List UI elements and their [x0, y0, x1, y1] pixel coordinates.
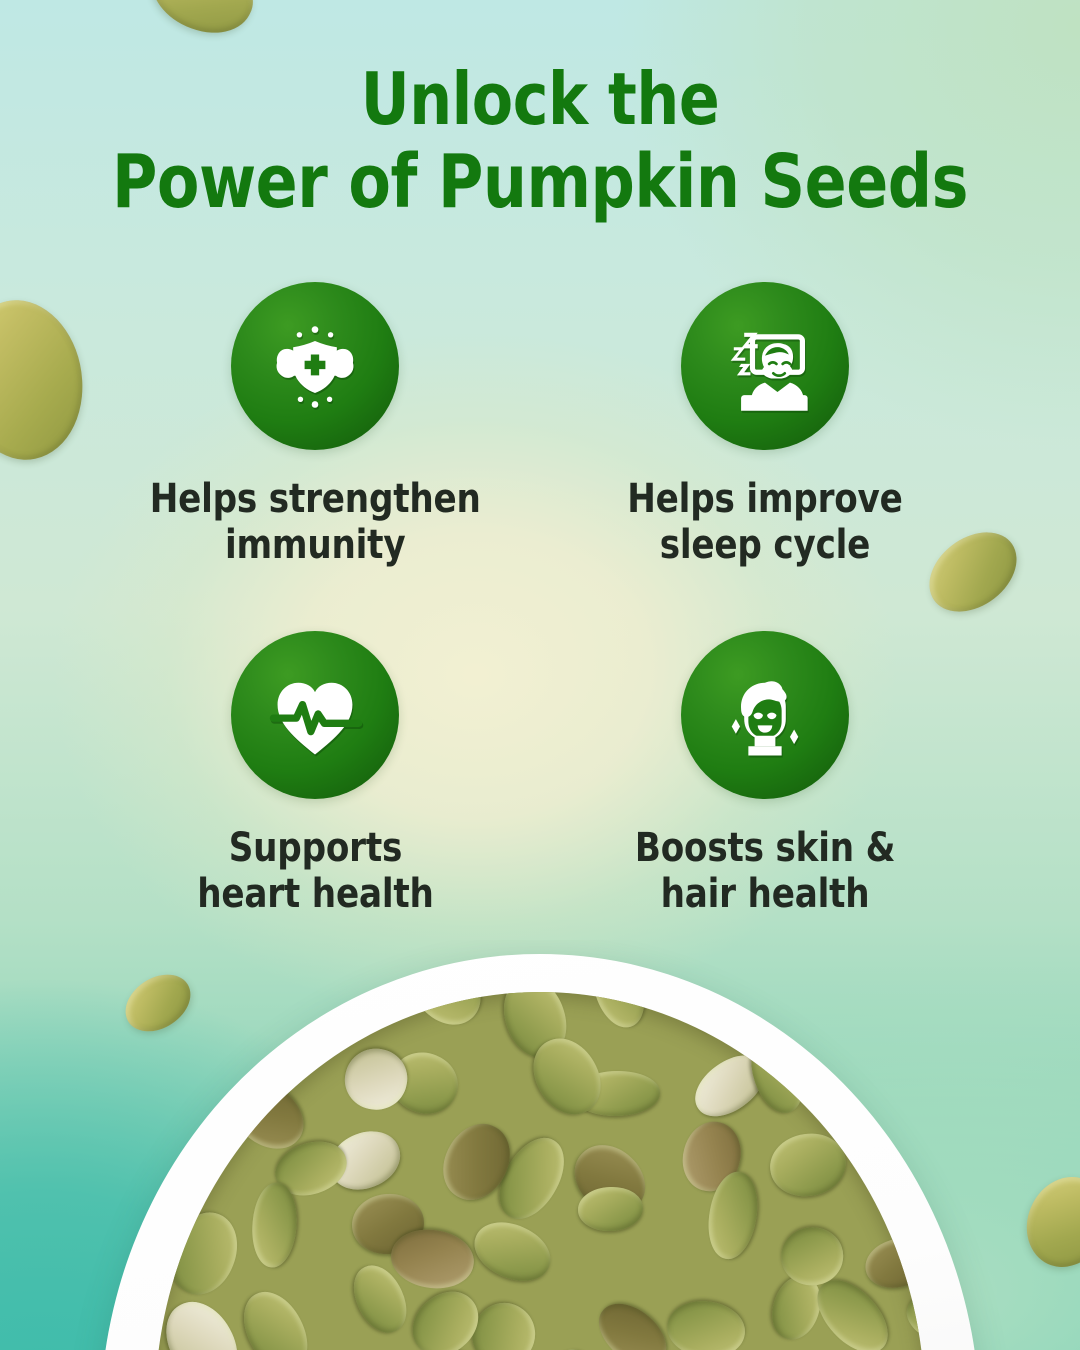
benefit-icon-badge: [231, 282, 399, 450]
pumpkin-seed-pile: [155, 992, 925, 1350]
face-towel-sparkle-icon: [713, 663, 817, 767]
benefit-icon-badge: [231, 631, 399, 799]
benefits-grid: Helps strengthen immunity: [90, 282, 990, 918]
immunity-shield-muscle-icon: [263, 314, 367, 418]
benefit-item-immunity: Helps strengthen immunity: [90, 282, 540, 569]
page-title: Unlock the Power of Pumpkin Seeds: [38, 58, 1042, 224]
page-title-line-1: Unlock the: [38, 58, 1042, 140]
promo-poster: Unlock the Power of Pumpkin Seeds: [0, 0, 1080, 1350]
benefit-icon-badge: [681, 282, 849, 450]
benefit-icon-badge: [681, 631, 849, 799]
sleeping-person-icon: [713, 314, 817, 418]
benefit-label: Supports heart health: [197, 825, 433, 918]
bowl-contents: [155, 992, 925, 1350]
benefit-item-skin-hair: Boosts skin & hair health: [540, 631, 990, 918]
benefit-label: Boosts skin & hair health: [635, 825, 895, 918]
benefit-label: Helps strengthen immunity: [149, 476, 480, 569]
benefit-item-heart: Supports heart health: [90, 631, 540, 918]
benefit-label: Helps improve sleep cycle: [627, 476, 902, 569]
heart-pulse-icon: [263, 663, 367, 767]
benefit-item-sleep: Helps improve sleep cycle: [540, 282, 990, 569]
product-image-bowl-of-pumpkin-seeds: [0, 940, 1080, 1350]
page-title-line-2: Power of Pumpkin Seeds: [38, 140, 1042, 224]
